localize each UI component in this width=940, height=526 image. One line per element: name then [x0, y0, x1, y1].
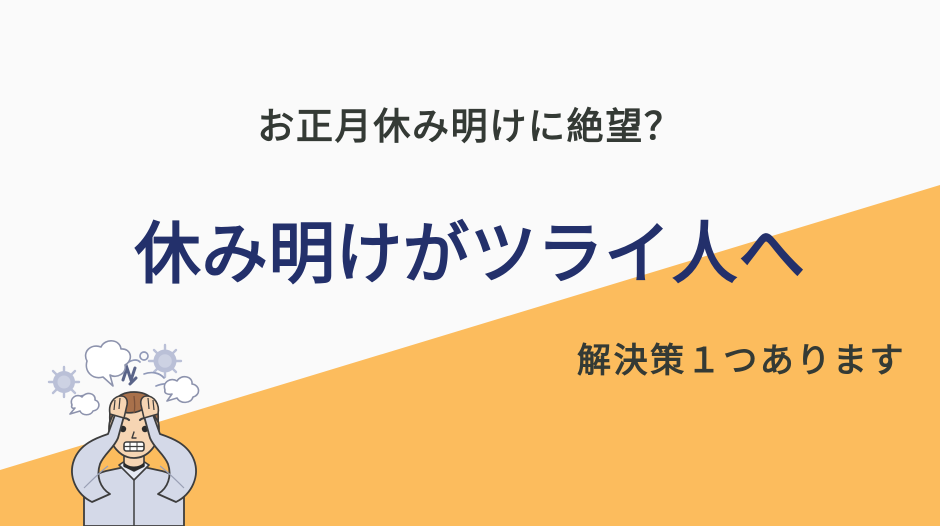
mouth: [124, 442, 144, 451]
small-bubble-top: [140, 352, 148, 360]
right-hand: [141, 396, 159, 418]
subtitle-text: お正月休み明けに絶望？: [0, 96, 940, 150]
steam-puff-right: [164, 377, 198, 403]
left-hand: [110, 396, 128, 418]
virus-blob-left: [49, 367, 79, 397]
steam-puff-small-left: [70, 393, 99, 414]
stressed-man-holding-head-illustration: [24, 334, 244, 526]
headline-text: 休み明けがツライ人へ: [5, 200, 936, 297]
slide-canvas: お正月休み明けに絶望？ 休み明けがツライ人へ 解決策１つあります: [0, 0, 940, 526]
tagline-text: 解決策１つあります: [577, 333, 906, 382]
